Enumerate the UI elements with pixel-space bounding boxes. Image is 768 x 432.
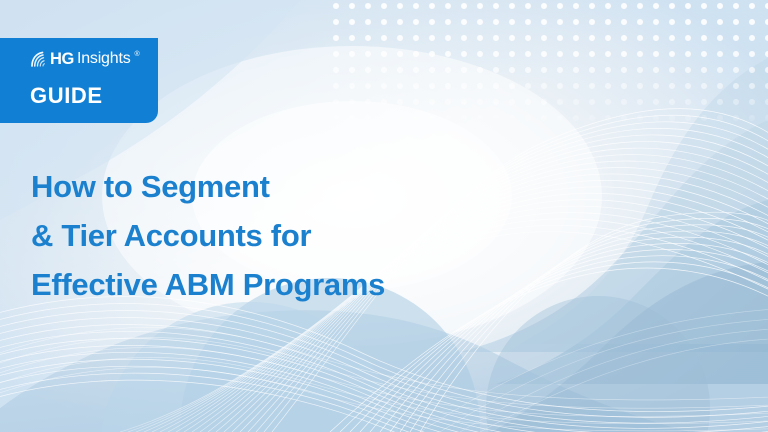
- headline-line-3: Effective ABM Programs: [31, 260, 501, 309]
- logo-trademark-symbol: ®: [135, 51, 140, 58]
- badge-kicker-label: GUIDE: [30, 85, 158, 107]
- guide-cover-slide: HG Insights ® GUIDE How to Segment & Tie…: [0, 0, 768, 432]
- dot-grid-pattern: [332, 0, 768, 132]
- headline-block: How to Segment & Tier Accounts for Effec…: [31, 162, 501, 309]
- hg-insights-logo: HG Insights ®: [30, 49, 158, 69]
- brand-badge: HG Insights ® GUIDE: [0, 38, 158, 123]
- headline-line-1: How to Segment: [31, 162, 501, 211]
- headline-line-2: & Tier Accounts for: [31, 211, 501, 260]
- logo-text-insights: Insights: [77, 51, 131, 67]
- logo-text-hg: HG: [50, 51, 74, 68]
- hg-insights-fingerprint-mark: [30, 51, 47, 68]
